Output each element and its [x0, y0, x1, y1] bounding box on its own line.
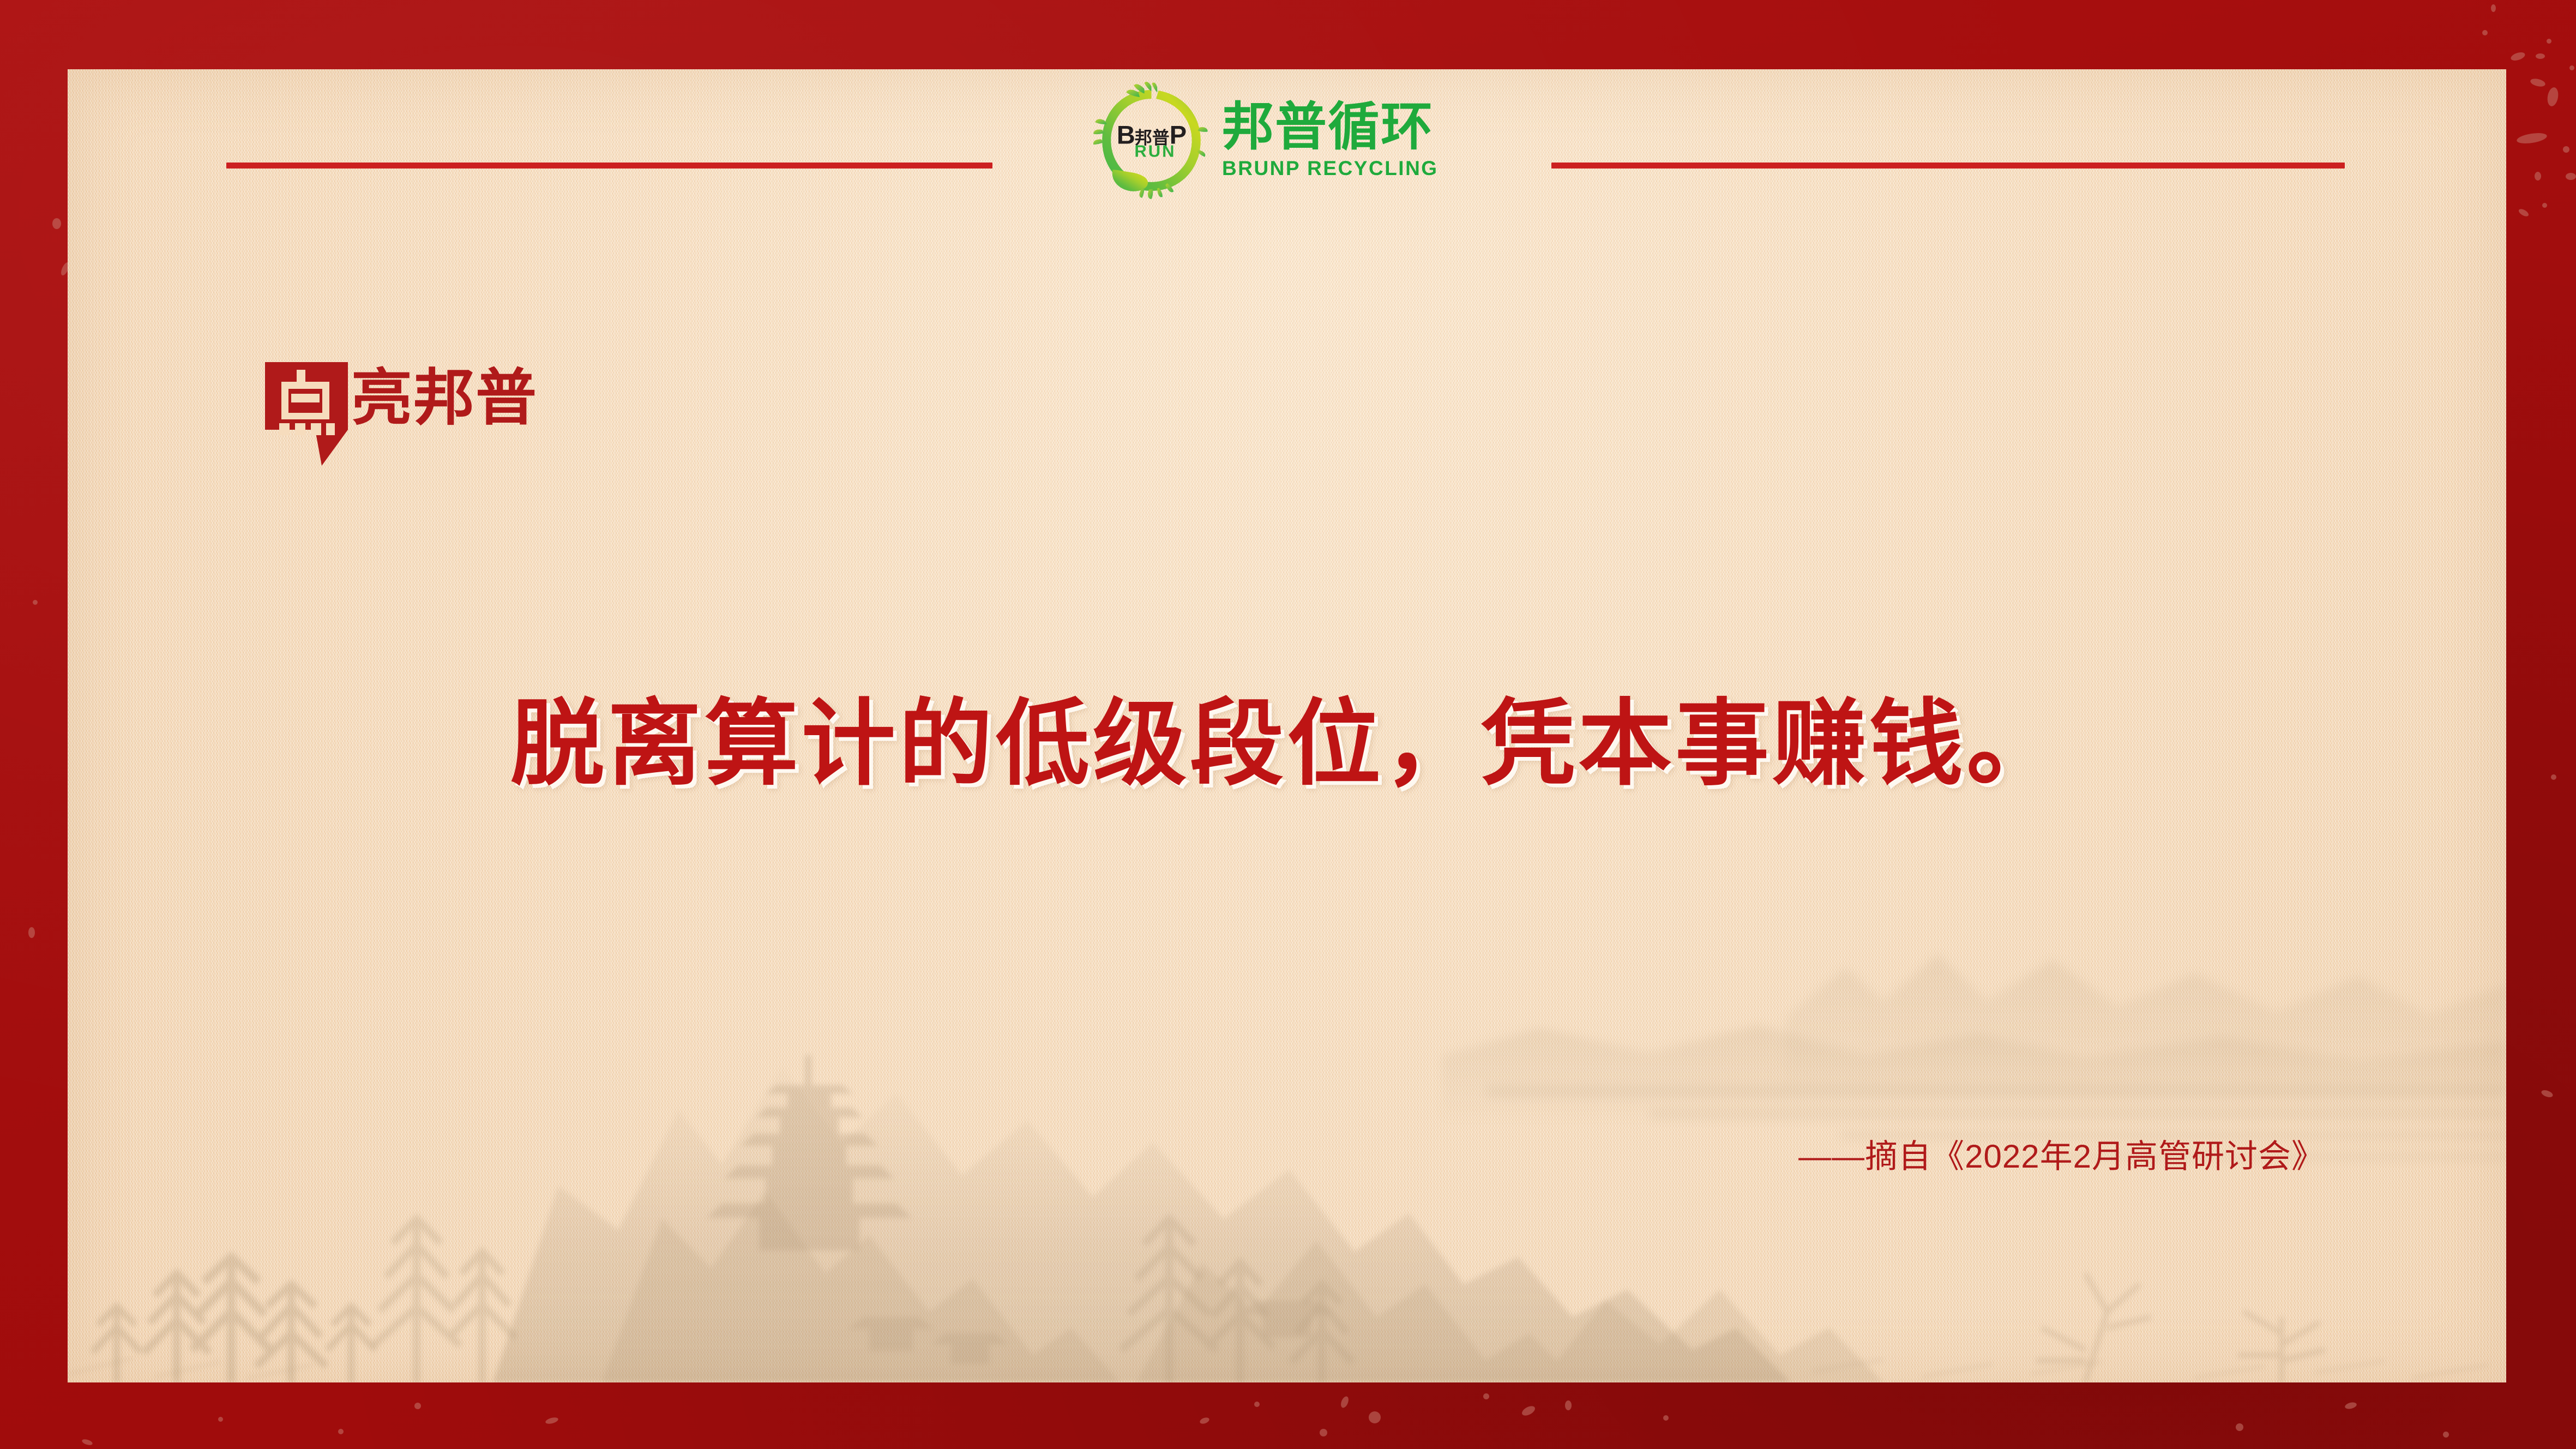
- divider-line-right: [1551, 163, 2345, 169]
- landscape-watermark: [68, 837, 2506, 1382]
- section-tag: 亮邦普: [265, 362, 538, 437]
- logo-wordmark-cn: 邦普循环: [1222, 101, 1439, 154]
- logo-wordmark-en: BRUNP RECYCLING: [1222, 157, 1439, 180]
- brunp-logo: B邦普P RUN 邦普循环 BRUNP RECYCLING: [1093, 79, 1485, 202]
- paper-panel: B邦普P RUN 邦普循环 BRUNP RECYCLING: [68, 69, 2506, 1382]
- logo-inner-text: B邦普P RUN: [1103, 122, 1201, 159]
- logo-letter-b: B: [1117, 120, 1135, 149]
- headline-quote: 脱离算计的低级段位，凭本事赚钱。: [68, 686, 2506, 803]
- quote-attribution: ——摘自《2022年2月高管研讨会》: [1798, 1130, 2325, 1177]
- logo-wordmark: 邦普循环 BRUNP RECYCLING: [1222, 101, 1439, 180]
- section-tag-label: 亮邦普: [351, 362, 538, 434]
- brush-circle-logo-icon: B邦普P RUN: [1093, 82, 1210, 199]
- speech-bubble-icon: [265, 362, 348, 437]
- divider-line-left: [226, 163, 992, 169]
- brand-header: B邦普P RUN 邦普循环 BRUNP RECYCLING: [68, 69, 2506, 249]
- poster-canvas: B邦普P RUN 邦普循环 BRUNP RECYCLING: [0, 0, 2576, 1449]
